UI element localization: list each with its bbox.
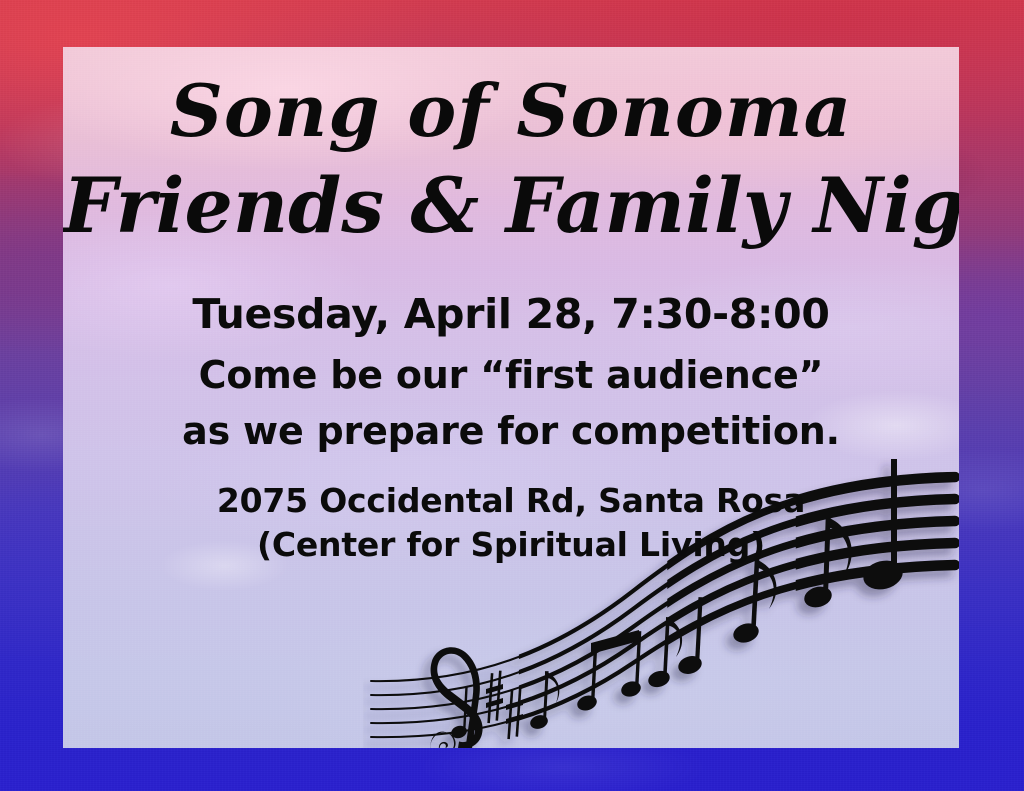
invitation-line-2: as we prepare for competition. (63, 409, 959, 453)
title-line-2: Friends & Family Night (63, 168, 959, 244)
invitation-line-1: Come be our “first audience” (63, 353, 959, 397)
event-flyer-poster: Song of Sonoma Friends & Family Night Tu… (0, 0, 1024, 791)
event-date-time: Tuesday, April 28, 7:30-8:00 (63, 290, 959, 338)
venue-address: 2075 Occidental Rd, Santa Rosa (63, 481, 959, 520)
title-line-1: Song of Sonoma (63, 75, 959, 147)
venue-name: (Center for Spiritual Living) (63, 525, 959, 564)
inner-content-panel: Song of Sonoma Friends & Family Night Tu… (63, 47, 959, 748)
